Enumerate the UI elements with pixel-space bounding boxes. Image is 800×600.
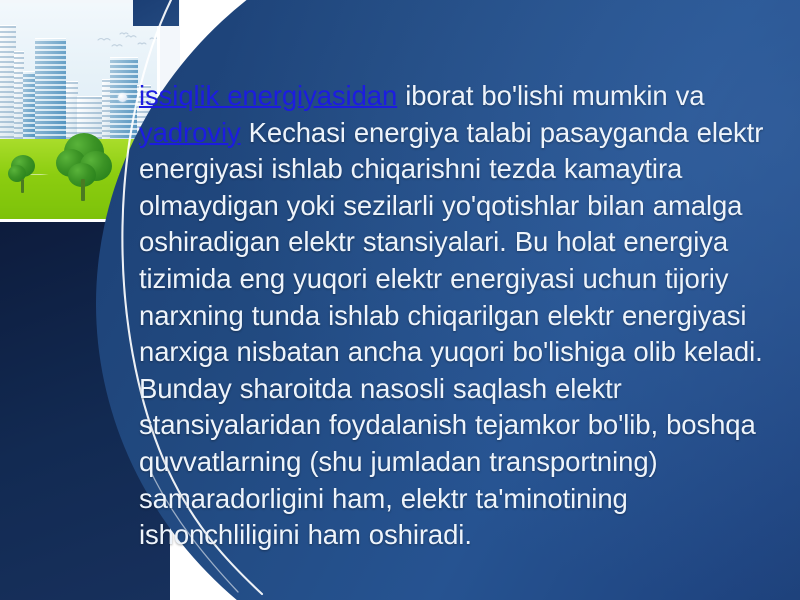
panel-top-notch bbox=[133, 0, 179, 26]
body-text-segment-1: iborat bo'lishi mumkin va bbox=[397, 80, 704, 111]
link-issiqlik-energiyasidan[interactable]: issiqlik energiyasidan bbox=[139, 80, 397, 111]
birds-icon bbox=[96, 31, 160, 55]
tree-large bbox=[56, 127, 114, 201]
slide-canvas: issiqlik energiyasidan iborat bo'lishi m… bbox=[0, 0, 800, 600]
link-yadroviy[interactable]: yadroviy bbox=[139, 117, 241, 148]
bullet-list-item: issiqlik energiyasidan iborat bo'lishi m… bbox=[118, 78, 790, 554]
tree-small bbox=[8, 153, 38, 193]
slide-body: issiqlik energiyasidan iborat bo'lishi m… bbox=[118, 78, 790, 554]
bullet-marker-icon bbox=[118, 93, 127, 102]
body-text-segment-2: Kechasi energiya talabi pasayganda elekt… bbox=[139, 117, 763, 551]
body-paragraph: issiqlik energiyasidan iborat bo'lishi m… bbox=[139, 78, 790, 554]
